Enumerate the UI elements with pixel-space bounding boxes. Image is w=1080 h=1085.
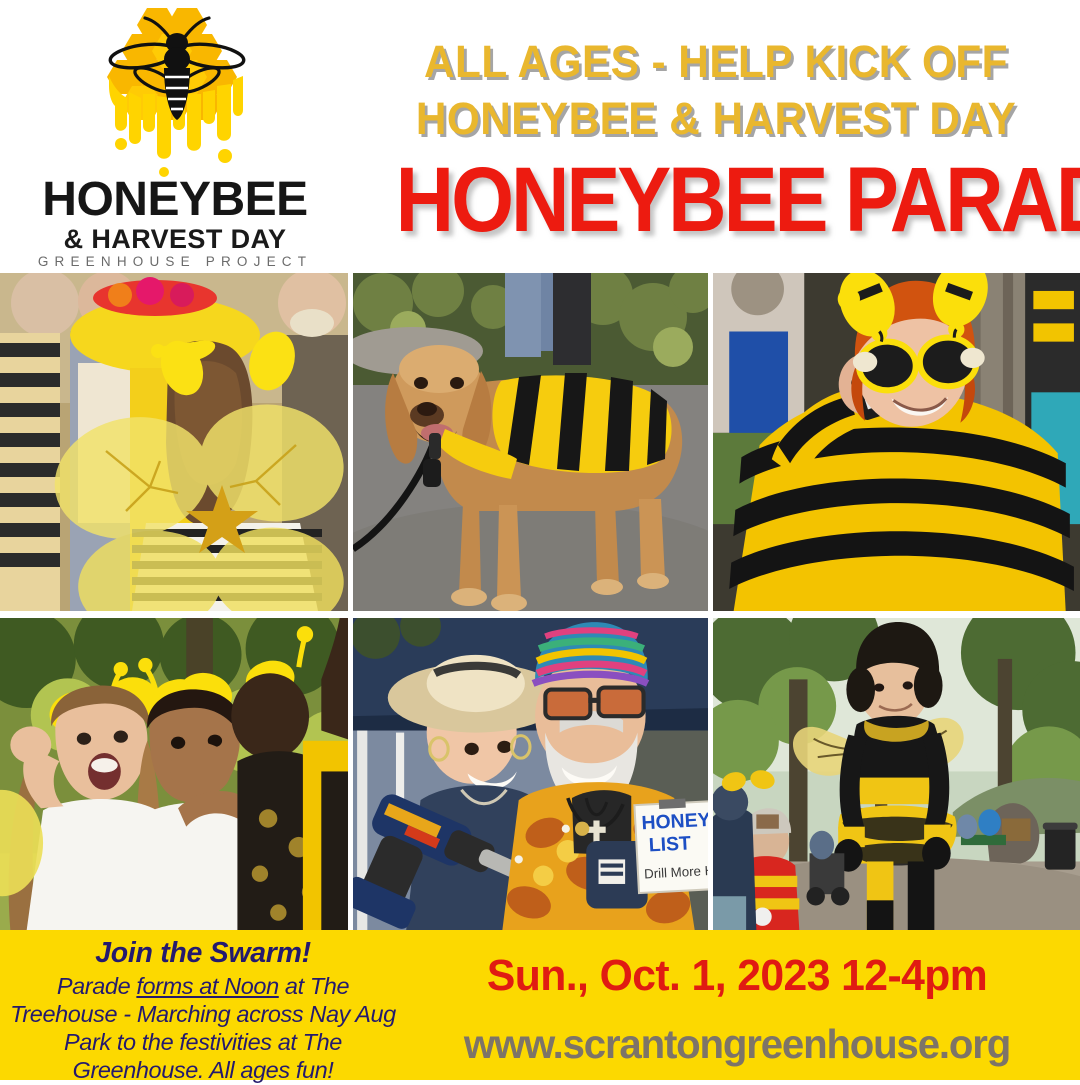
photo-volunteers-honey-do-sign: HONEY-DO LIST Drill More Holes [353, 618, 713, 930]
parade-details-text: Parade forms at Noon at The Treehouse - … [8, 970, 398, 1085]
poster-header: HONEYBEE & HARVEST DAY GREENHOUSE PROJEC… [0, 0, 1080, 273]
organization-logo: HONEYBEE & HARVEST DAY GREENHOUSE PROJEC… [0, 4, 350, 272]
kicker-line-1: ALL AGES - HELP KICK OFF [374, 34, 1058, 91]
footer-date-and-url-block: Sun., Oct. 1, 2023 12-4pm www.scrantongr… [398, 932, 1076, 1078]
website-url[interactable]: www.scrantongreenhouse.org [405, 998, 1069, 1065]
photo-child-bee-wings [0, 273, 353, 618]
logo-title: HONEYBEE [0, 176, 350, 224]
kicker-line-2: HONEYBEE & HARVEST DAY [374, 91, 1058, 148]
photo-girls-cheering [0, 618, 353, 930]
event-dateline: Sun., Oct. 1, 2023 12-4pm [408, 932, 1066, 998]
photo-girl-bee-tutu-costume [713, 618, 1080, 930]
sign-line-2: LIST [648, 832, 691, 856]
join-the-swarm-heading: Join the Swarm! [8, 934, 398, 970]
logo-tagline: GREENHOUSE PROJECT [0, 255, 350, 269]
page-title: HONEYBEE PARADE [396, 154, 1037, 246]
sign-line-1: HONEY-DO [641, 807, 708, 834]
poster-footer: Join the Swarm! Parade forms at Noon at … [0, 930, 1080, 1080]
photo-golden-retriever-bee-costume [353, 273, 713, 618]
blurb-underlined-time: forms at Noon [136, 973, 278, 999]
honeycomb-bee-honey-drip-icon [85, 6, 270, 181]
photo-woman-bee-sunglasses [713, 273, 1080, 618]
photo-gallery-grid: HONEY-DO LIST Drill More Holes [0, 273, 1080, 930]
event-kicker: ALL AGES - HELP KICK OFF HONEYBEE & HARV… [352, 34, 1080, 147]
footer-details-block: Join the Swarm! Parade forms at Noon at … [8, 934, 398, 1076]
logo-subtitle: & HARVEST DAY [0, 226, 350, 253]
blurb-part-1: Parade [57, 973, 137, 999]
